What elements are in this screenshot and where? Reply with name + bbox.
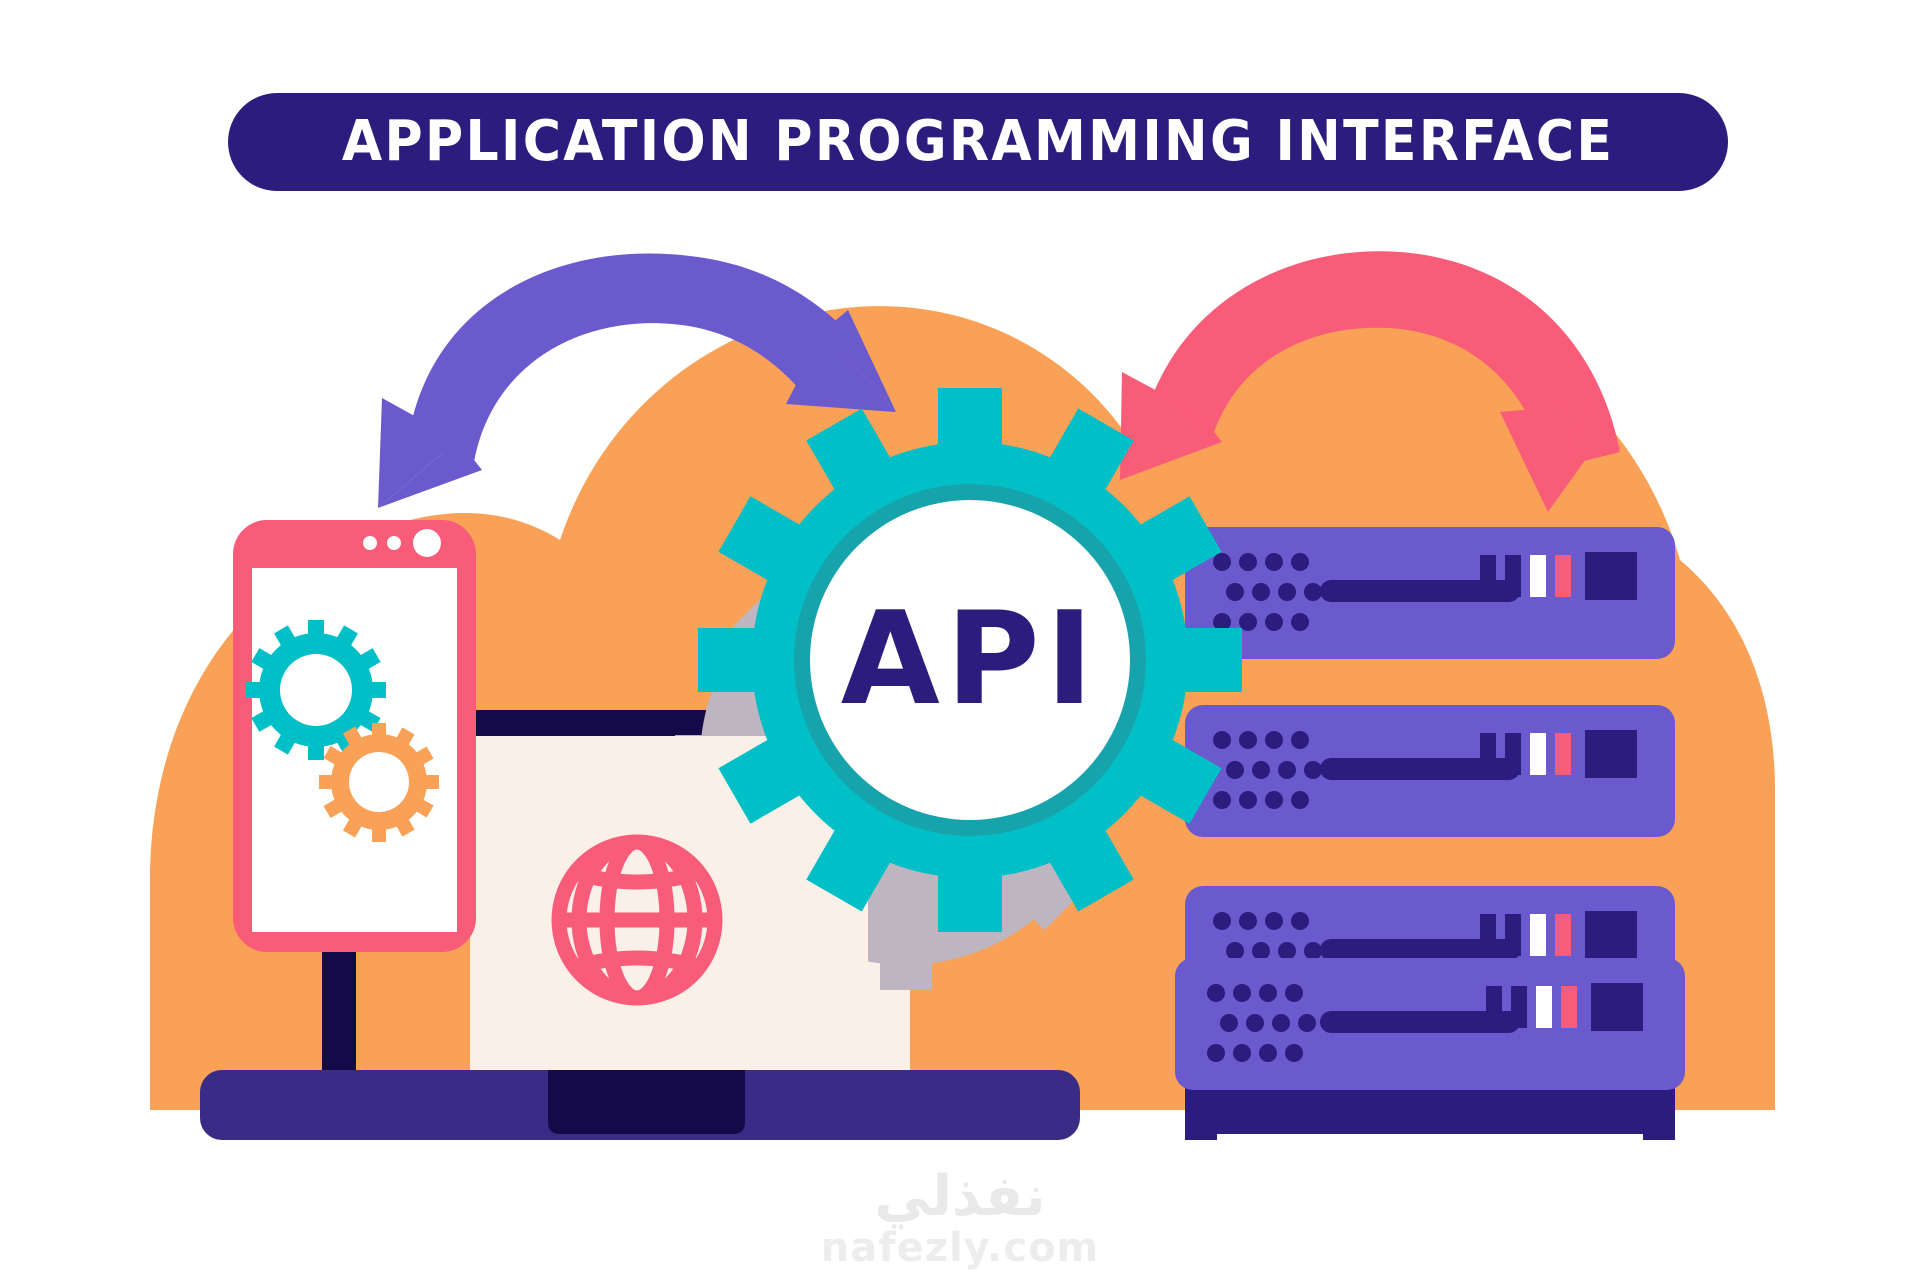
page-title: APPLICATION PROGRAMMING INTERFACE — [342, 114, 1614, 170]
device-base-bar — [0, 0, 1920, 1280]
page-title-banner: APPLICATION PROGRAMMING INTERFACE — [228, 93, 1728, 191]
illustration-canvas: API APPLICATION PROGRAMMING INTERFACE نف… — [0, 0, 1920, 1280]
